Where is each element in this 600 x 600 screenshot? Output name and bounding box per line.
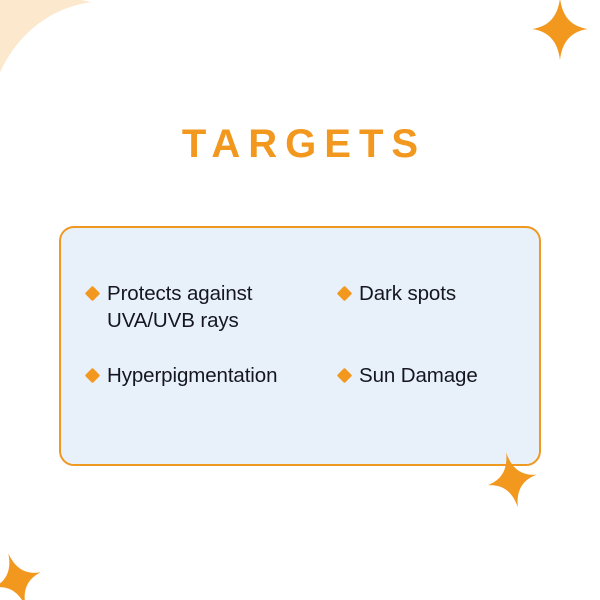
page-title: TARGETS — [0, 124, 600, 164]
list-item-label: Dark spots — [359, 280, 456, 307]
diamond-bullet-icon — [85, 368, 101, 384]
diamond-bullet-icon — [337, 286, 353, 302]
targets-list: Protects against UVA/UVB rays Dark spots… — [87, 280, 527, 389]
slide-canvas: TARGETS Protects against UVA/UVB rays Da… — [0, 0, 600, 600]
list-item-label: Hyperpigmentation — [107, 362, 277, 389]
list-item: Sun Damage — [339, 362, 527, 389]
list-item-label: Sun Damage — [359, 362, 478, 389]
cream-sparkle-blob-icon — [0, 0, 92, 122]
orange-sparkle-icon — [0, 546, 49, 600]
list-item: Protects against UVA/UVB rays — [87, 280, 339, 334]
orange-sparkle-icon — [532, 0, 588, 60]
list-item: Dark spots — [339, 280, 527, 334]
list-item-label: Protects against UVA/UVB rays — [107, 280, 252, 334]
list-item: Hyperpigmentation — [87, 362, 339, 389]
targets-card: Protects against UVA/UVB rays Dark spots… — [59, 226, 541, 466]
diamond-bullet-icon — [85, 286, 101, 302]
diamond-bullet-icon — [337, 368, 353, 384]
